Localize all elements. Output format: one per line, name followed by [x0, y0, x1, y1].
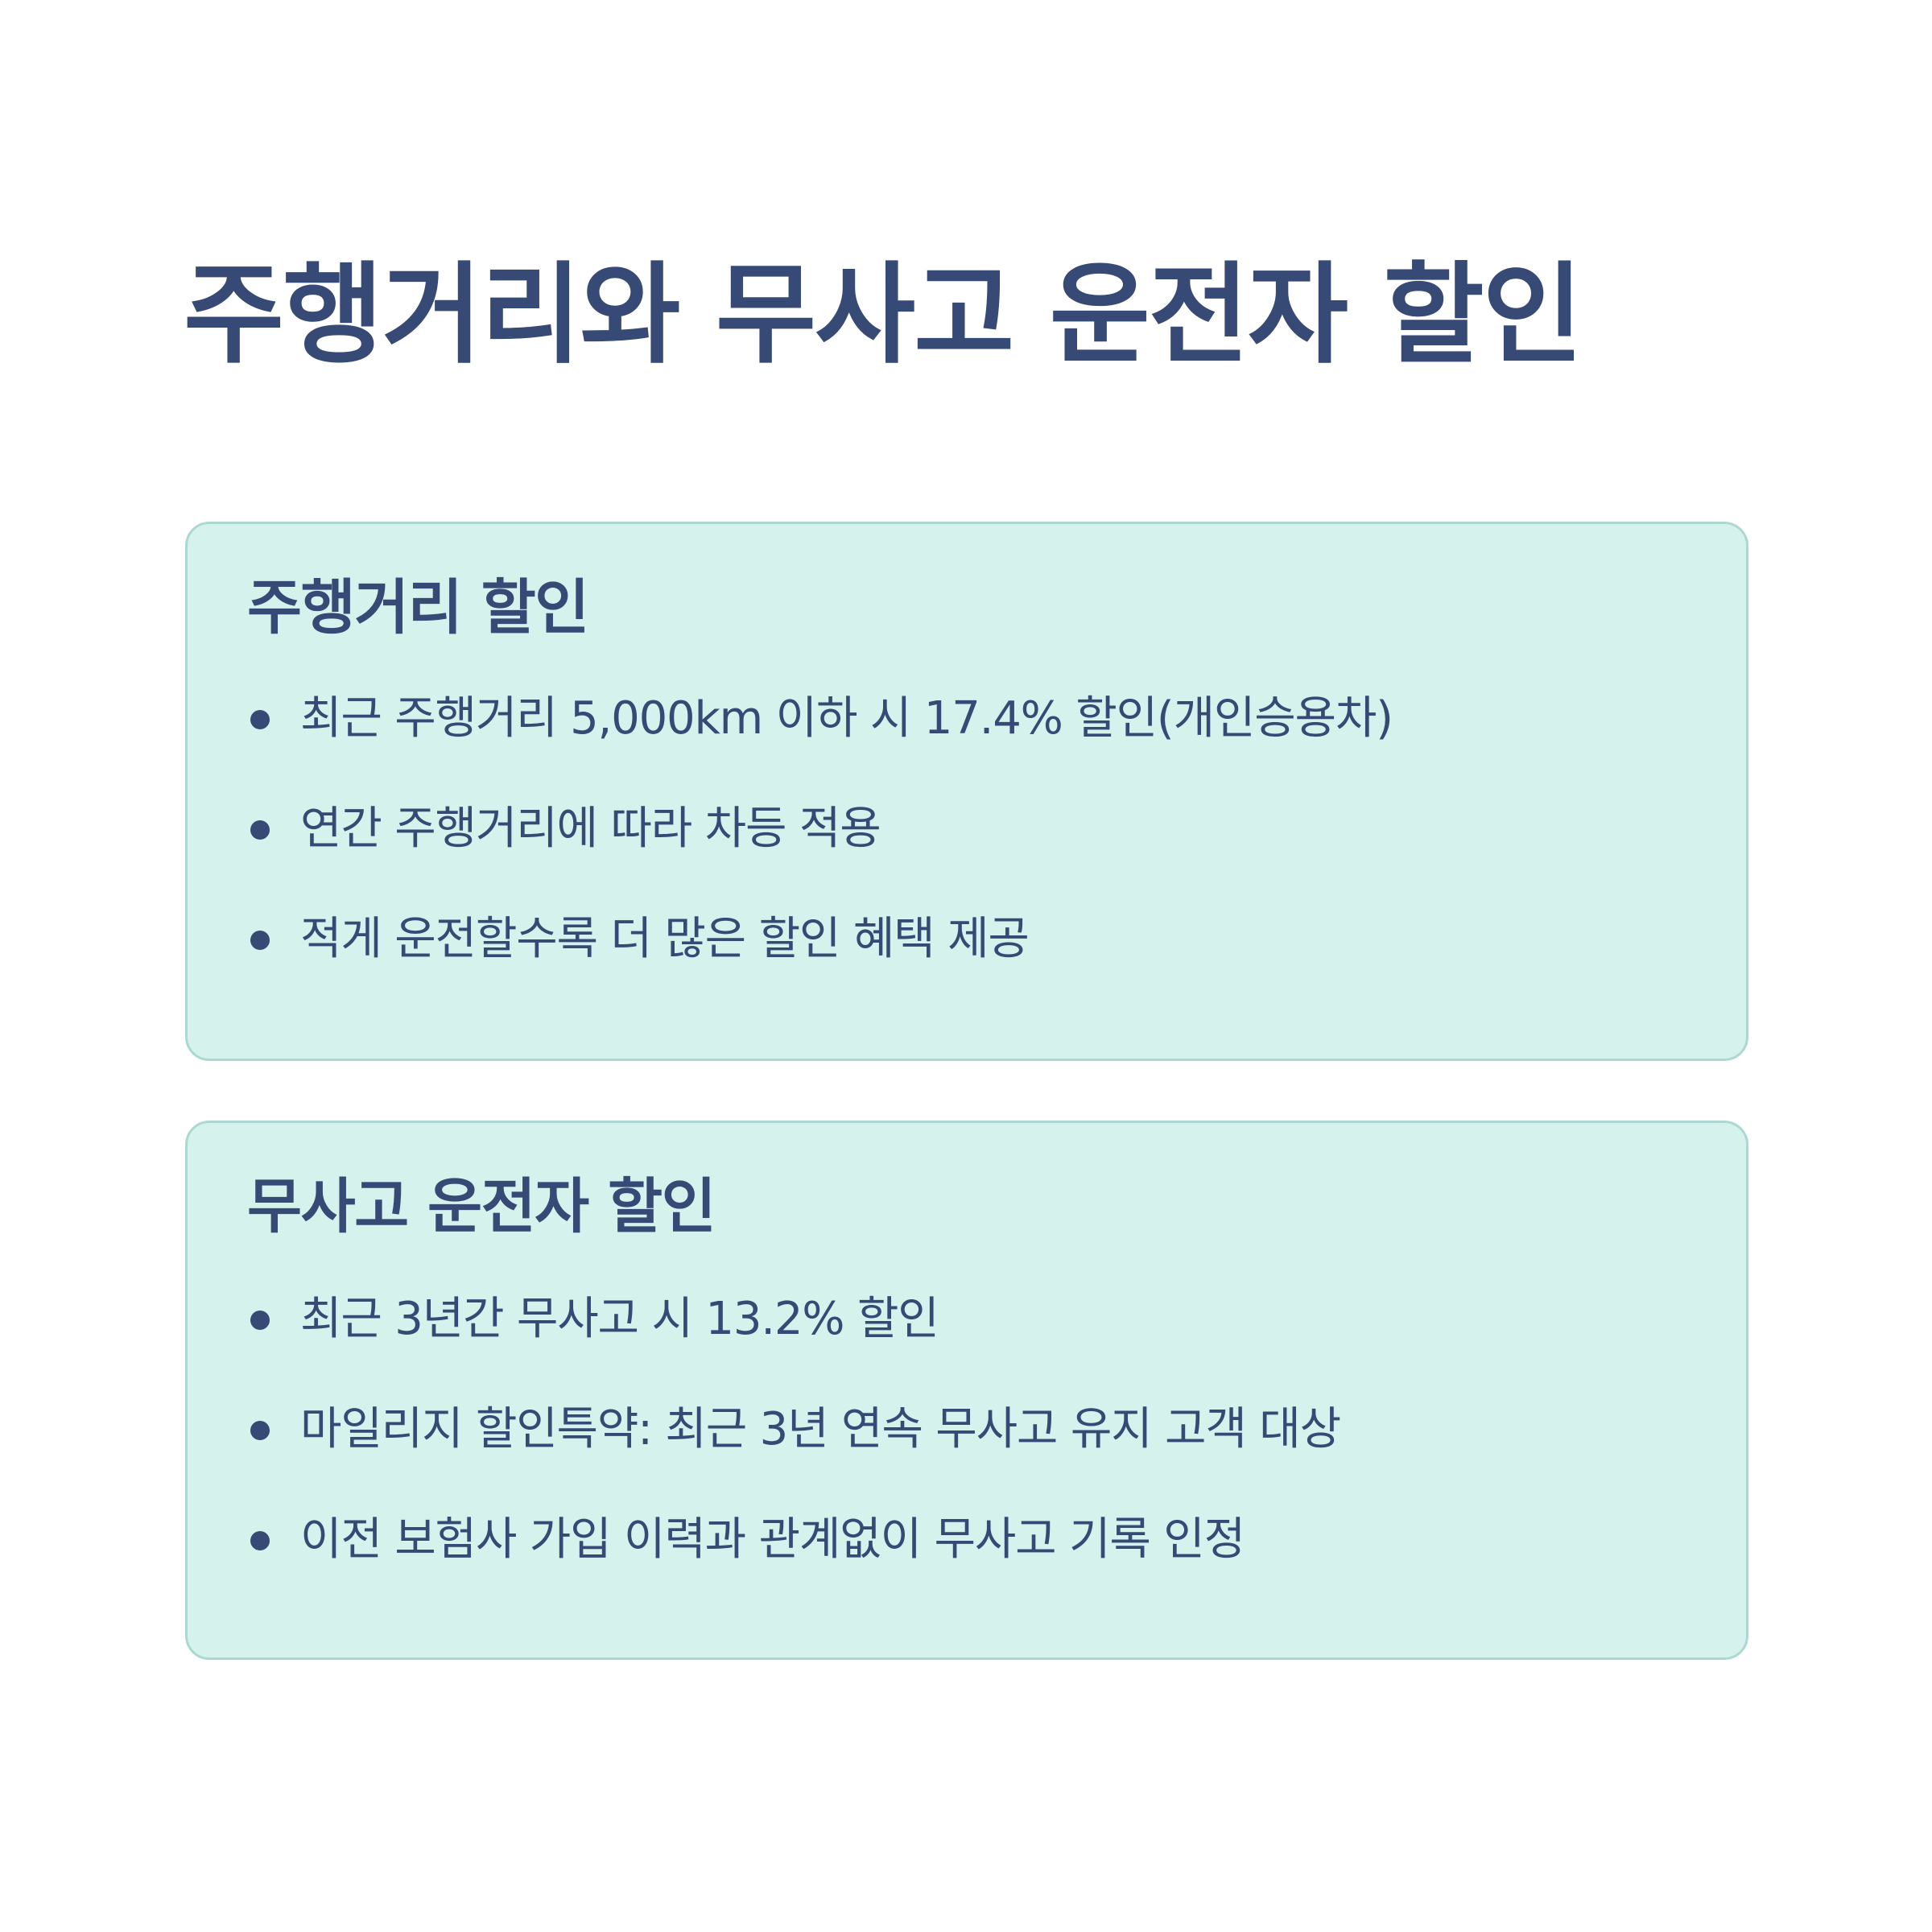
list-item-label: 적게 운전할수록 더 많은 할인 혜택 제공: [300, 912, 1029, 967]
bullet-dot-icon: [250, 1421, 270, 1440]
bullet-list-mileage-discount: 최근 주행거리 5,000km 이하 시 17.4% 할인(개인승용차) 연간 …: [247, 691, 1686, 968]
bullet-dot-icon: [250, 820, 270, 840]
bullet-dot-icon: [250, 1531, 270, 1550]
bullet-dot-icon: [250, 931, 270, 950]
list-item-label: 최근 주행거리 5,000km 이하 시 17.4% 할인(개인승용차): [300, 691, 1393, 746]
list-item: 적게 운전할수록 더 많은 할인 혜택 제공: [300, 912, 1686, 967]
list-item-label: 연간 주행거리에 따라 차등 적용: [300, 802, 881, 857]
card-no-claim-discount: 무사고 운전자 할인 최근 3년간 무사고 시 13.2% 할인 마일리지 할인…: [185, 1121, 1748, 1660]
card-title-mileage-discount: 주행거리 할인: [247, 574, 1686, 643]
bullet-list-no-claim-discount: 최근 3년간 무사고 시 13.2% 할인 마일리지 할인특약: 최근 3년 연…: [247, 1292, 1686, 1568]
list-item-label: 마일리지 할인특약: 최근 3년 연속 무사고 유지 고객 대상: [300, 1402, 1340, 1457]
list-item: 연간 주행거리에 따라 차등 적용: [300, 802, 1686, 857]
bullet-dot-icon: [250, 710, 270, 729]
card-mileage-discount: 주행거리 할인 최근 주행거리 5,000km 이하 시 17.4% 할인(개인…: [185, 522, 1748, 1061]
list-item: 최근 3년간 무사고 시 13.2% 할인: [300, 1292, 1686, 1347]
page-title: 주행거리와 무사고 운전자 할인: [184, 251, 1794, 380]
list-item: 이전 보험사 가입 이력과 관계없이 무사고 기록 인정: [300, 1513, 1686, 1567]
list-item: 마일리지 할인특약: 최근 3년 연속 무사고 유지 고객 대상: [300, 1402, 1686, 1457]
infographic-page: 주행거리와 무사고 운전자 할인 주행거리 할인 최근 주행거리 5,000km…: [0, 0, 1932, 1932]
card-title-no-claim-discount: 무사고 운전자 할인: [247, 1173, 1686, 1242]
bullet-dot-icon: [250, 1311, 270, 1330]
list-item-label: 이전 보험사 가입 이력과 관계없이 무사고 기록 인정: [300, 1513, 1245, 1567]
list-item-label: 최근 3년간 무사고 시 13.2% 할인: [300, 1292, 939, 1347]
list-item: 최근 주행거리 5,000km 이하 시 17.4% 할인(개인승용차): [300, 691, 1686, 746]
